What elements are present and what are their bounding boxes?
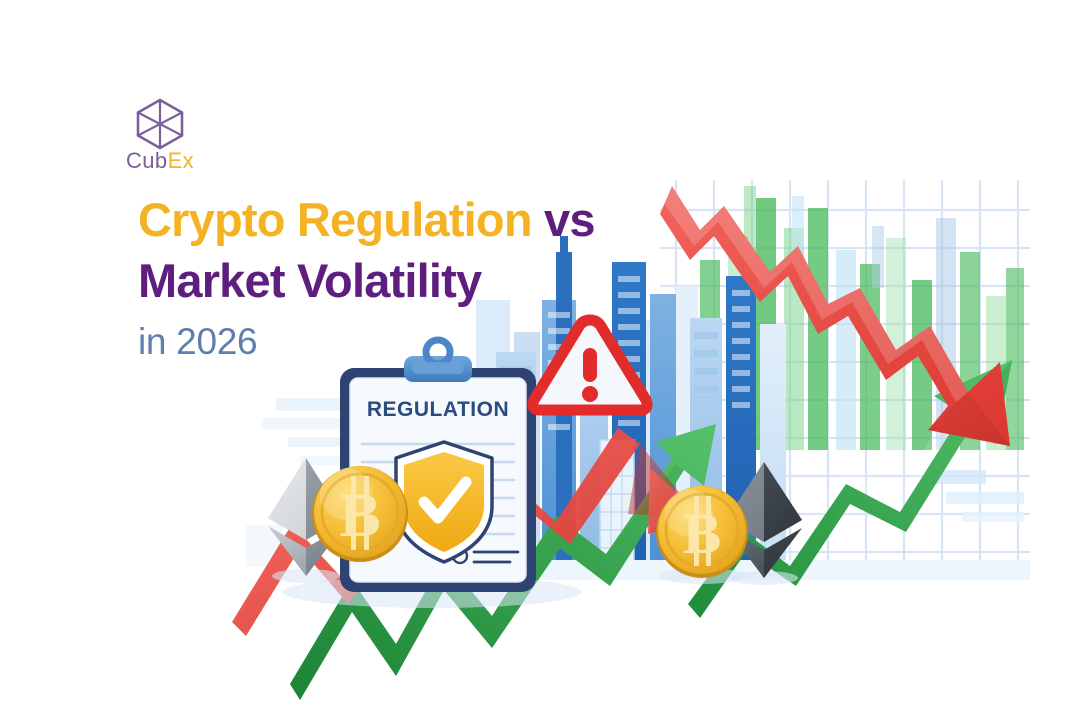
brand-wordmark: CubEx bbox=[126, 148, 194, 174]
headline-block: Crypto Regulation vs Market Volatility i… bbox=[138, 190, 698, 372]
headline-line-2: Market Volatility bbox=[138, 250, 698, 312]
brand-name-part2: Ex bbox=[168, 148, 194, 173]
headline-connector: vs bbox=[544, 193, 595, 246]
clipboard-title: REGULATION bbox=[352, 398, 524, 422]
brand-logo[interactable]: CubEx bbox=[126, 96, 246, 180]
svg-text:B: B bbox=[683, 501, 722, 566]
headline-highlight: Crypto Regulation bbox=[138, 193, 532, 246]
svg-text:B: B bbox=[339, 482, 380, 550]
hexagon-cube-icon bbox=[132, 96, 188, 152]
headline-line-1: Crypto Regulation vs bbox=[138, 190, 698, 250]
poster-canvas: B B bbox=[0, 0, 1075, 716]
headline-line-3: in 2026 bbox=[138, 312, 698, 372]
bitcoin-coin-icon-left: B bbox=[312, 466, 408, 562]
brand-name-part1: Cub bbox=[126, 148, 168, 173]
